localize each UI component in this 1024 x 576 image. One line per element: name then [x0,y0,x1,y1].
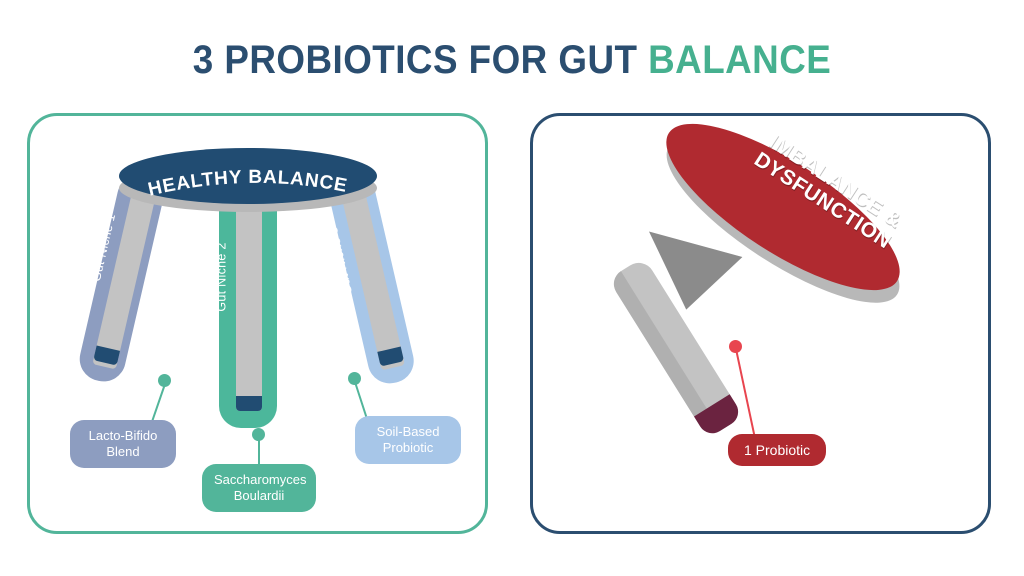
callout-1-line-2: Blend [82,444,164,460]
callout-1-probiotic[interactable]: 1 Probiotic [728,434,826,466]
connector-line-3 [354,382,368,421]
callout-lacto-bifido-blend[interactable]: Lacto-Bifido Blend [70,420,176,468]
infographic-canvas: 3 PROBIOTICS FOR GUT BALANCE Gut Niche 1… [0,0,1024,576]
page-title: 3 PROBIOTICS FOR GUT BALANCE [41,38,983,83]
panel-healthy-balance: Gut Niche 1 Gut Niche 3 Gut Niche 2 [27,113,488,534]
callout-3-line-1: Soil-Based [367,424,449,440]
callout-soil-based-probiotic[interactable]: Soil-Based Probiotic [355,416,461,464]
one-legged-stool-diagram: IMBALANCE & DYSFUNCTION 1 Probiotic [533,116,994,537]
callout-3-line-2: Probiotic [367,440,449,456]
stool-seat-text-path: HEALTHY BALANCE [119,148,377,218]
seat-label-healthy-balance: HEALTHY BALANCE [146,167,349,201]
callout-saccharomyces-boulardii[interactable]: Saccharomyces Boulardii [202,464,316,512]
leg-2-label: Gut Niche 2 [215,242,229,311]
panel-imbalance-dysfunction: IMBALANCE & DYSFUNCTION 1 Probiotic [530,113,991,534]
leg-2-inner-shaft [236,186,262,411]
title-main-text: 3 PROBIOTICS FOR GUT [193,38,648,82]
three-legged-stool-diagram: Gut Niche 1 Gut Niche 3 Gut Niche 2 [30,116,491,537]
leg-2-foot-cap [236,396,262,411]
callout-2-line-2: Boulardii [214,488,304,504]
callout-1-line-1: Lacto-Bifido [82,428,164,444]
title-accent-text: BALANCE [648,38,831,82]
connector-line-1 [150,384,166,424]
connector-line-probiotic [735,349,756,439]
callout-2-line-1: Saccharomyces [214,472,304,488]
